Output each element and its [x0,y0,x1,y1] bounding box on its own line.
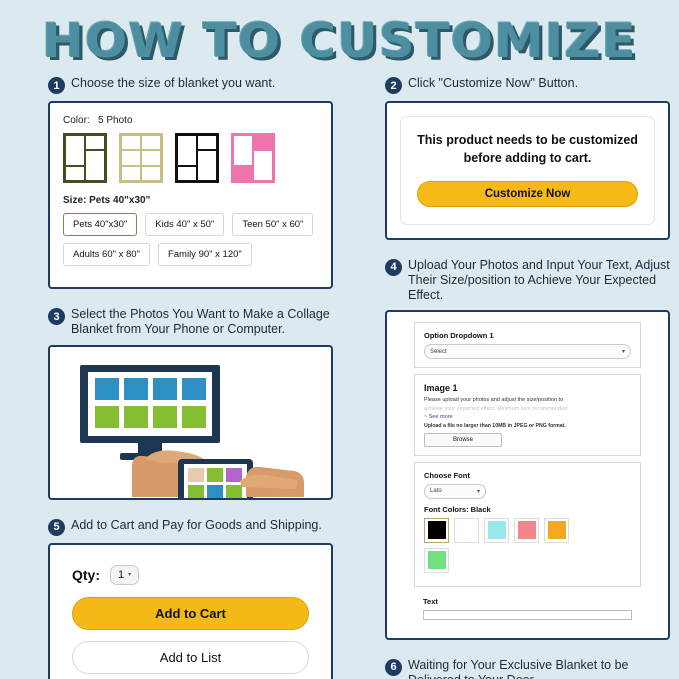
font-color-salmon[interactable] [514,518,539,543]
color-chip [458,521,476,539]
add-to-list-button[interactable]: Add to List [72,641,309,674]
step-2-panel: This product needs to be customized befo… [385,101,670,240]
step-2-text: Click "Customize Now" Button. [408,76,578,91]
font-color-row-2 [424,548,631,573]
font-color-row-1 [424,518,631,543]
step-6-badge: 6 [385,659,402,676]
swatch-cell [66,136,84,165]
qty-label: Qty: [72,567,100,583]
step-3-text: Select the Photos You Want to Make a Col… [71,307,333,338]
size-option-teen[interactable]: Teen 50" x 60" [232,213,313,236]
see-more-link[interactable]: ~ See more [424,414,631,420]
swatch-cell [142,136,160,149]
text-input[interactable] [423,610,632,620]
swatch-cell [198,136,216,149]
step-3-badge: 3 [48,308,65,325]
step-1-badge: 1 [48,77,65,94]
font-select[interactable]: Lato ▾ [424,484,486,499]
step-5-text: Add to Cart and Pay for Goods and Shippi… [71,518,322,533]
step-4-heading: 4 Upload Your Photos and Input Your Text… [385,258,670,304]
image-description-2: achieve your expected effect. Minimum si… [424,405,631,413]
font-colors-label: Font Colors: Black [424,505,631,514]
step-4-badge: 4 [385,259,402,276]
chevron-down-icon: ▾ [477,488,480,495]
swatch-cell [122,167,140,180]
font-color-white[interactable] [454,518,479,543]
size-option-pets[interactable]: Pets 40"x30" [63,213,137,236]
step-5-badge: 5 [48,519,65,536]
step-1-panel: Color: 5 Photo [48,101,333,289]
color-chip [518,521,536,539]
step-2-badge: 2 [385,77,402,94]
customize-notice-card: This product needs to be customized befo… [400,116,655,225]
swatch-cell [178,167,196,180]
color-chip [488,521,506,539]
font-color-orange[interactable] [544,518,569,543]
size-option-family[interactable]: Family 90" x 120" [158,243,252,266]
step-4-panel: Option Dropdown 1 Select ▾ Image 1 Pleas… [385,310,670,640]
text-input-card: Text [414,593,641,622]
color-swatch-row [63,133,318,183]
qty-row: Qty: 1 ▾ [72,565,309,585]
color-value: 5 Photo [98,115,132,126]
option-dropdown-card: Option Dropdown 1 Select ▾ [414,322,641,368]
left-column: 1 Choose the size of blanket you want. C… [48,76,333,679]
page-title-wrap: HOW TO CUSTOMIZE [0,14,679,69]
swatch-cell [254,136,272,149]
swatch-cell [254,151,272,180]
swatch-pink[interactable] [231,133,275,183]
image-description: Please upload your photos and adjust the… [424,396,631,404]
size-row-2: Adults 60" x 80" Family 90" x 120" [63,243,318,266]
qty-value: 1 [118,569,124,581]
swatch-cell [66,167,84,180]
color-chip [548,521,566,539]
photo-selection-illustration [50,347,331,498]
customize-notice-text: This product needs to be customized befo… [417,132,638,168]
swatch-cell [234,136,252,165]
chevron-down-icon: ▾ [128,571,131,578]
step-6-text: Waiting for Your Exclusive Blanket to be… [408,658,670,679]
swatch-cell [86,136,104,149]
image-label: Image 1 [424,383,631,393]
customize-now-button[interactable]: Customize Now [417,181,638,207]
text-label: Text [423,597,632,606]
swatch-cell [142,151,160,164]
color-chip [428,521,446,539]
size-row-1: Pets 40"x30" Kids 40" x 50" Teen 50" x 6… [63,213,318,236]
swatch-cell [86,151,104,180]
image-upload-card: Image 1 Please upload your photos and ad… [414,374,641,456]
size-option-adults[interactable]: Adults 60" x 80" [63,243,150,266]
right-column: 2 Click "Customize Now" Button. This pro… [385,76,670,679]
add-to-cart-button[interactable]: Add to Cart [72,597,309,630]
font-color-cyan[interactable] [484,518,509,543]
swatch-cell [198,151,216,180]
font-value: Lato [430,488,442,494]
swatch-cell [234,167,252,180]
infographic-page: HOW TO CUSTOMIZE 1 Choose the size of bl… [0,0,679,679]
step-5-panel: Qty: 1 ▾ Add to Cart Add to List [48,543,333,679]
font-settings-card: Choose Font Lato ▾ Font Colors: Black [414,462,641,587]
font-color-green[interactable] [424,548,449,573]
color-chip [428,551,446,569]
swatch-cell [178,136,196,165]
page-title: HOW TO CUSTOMIZE [42,14,636,69]
step-3-panel [48,345,333,500]
swatch-cell [122,151,140,164]
qty-select[interactable]: 1 ▾ [110,565,139,585]
step-1-text: Choose the size of blanket you want. [71,76,275,91]
option-dropdown-select[interactable]: Select ▾ [424,344,631,359]
step-2-heading: 2 Click "Customize Now" Button. [385,76,670,94]
step-6-heading: 6 Waiting for Your Exclusive Blanket to … [385,658,670,679]
swatch-black[interactable] [175,133,219,183]
step-1-heading: 1 Choose the size of blanket you want. [48,76,333,94]
step-4-text: Upload Your Photos and Input Your Text, … [408,258,670,304]
font-color-black[interactable] [424,518,449,543]
size-label: Size: Pets 40"x30" [63,195,318,206]
option-dropdown-value: Select [430,349,447,355]
swatch-khaki[interactable] [119,133,163,183]
browse-button[interactable]: Browse [424,433,502,447]
swatch-cell [142,167,160,180]
step-5-heading: 5 Add to Cart and Pay for Goods and Ship… [48,518,333,536]
size-option-kids[interactable]: Kids 40" x 50" [145,213,224,236]
color-label: Color: 5 Photo [63,115,318,126]
step-3-heading: 3 Select the Photos You Want to Make a C… [48,307,333,338]
swatch-cell [122,136,140,149]
chevron-down-icon: ▾ [622,348,625,355]
option-dropdown-label: Option Dropdown 1 [424,331,631,340]
swatch-olive[interactable] [63,133,107,183]
upload-note: Upload a file no larger than 10MB in JPE… [424,423,631,429]
choose-font-label: Choose Font [424,471,631,480]
color-label-text: Color: [63,115,90,126]
